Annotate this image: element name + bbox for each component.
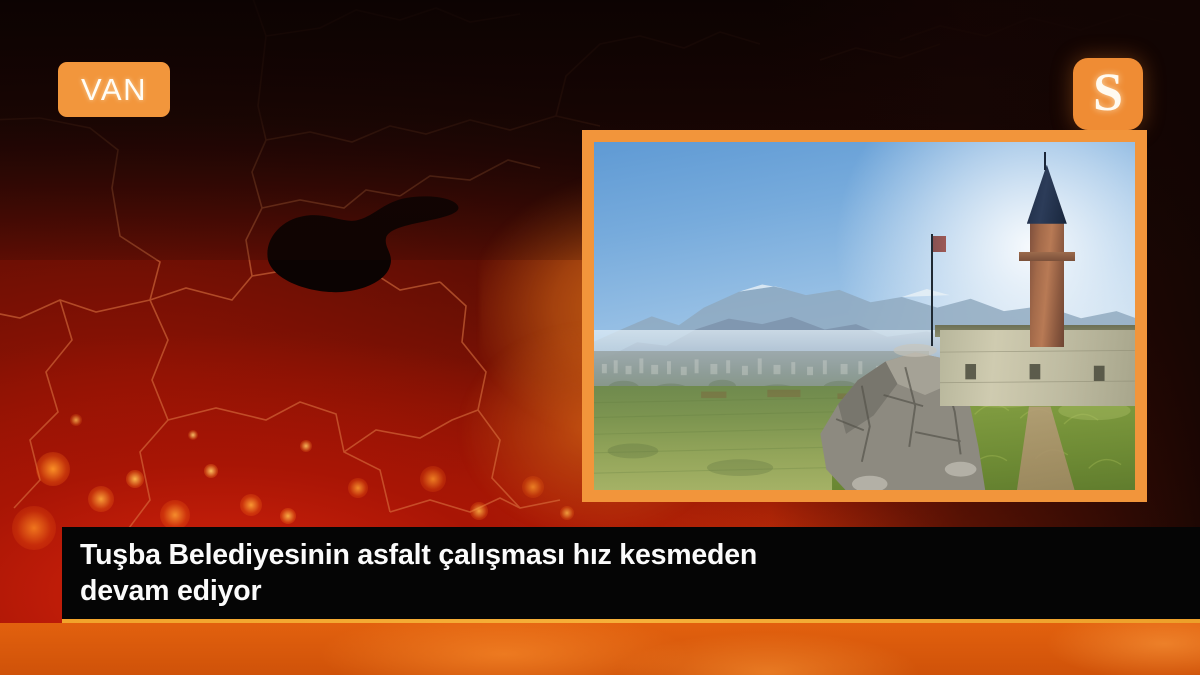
- page-title: Tuşba Belediyesinin asfalt çalışması hız…: [62, 537, 772, 610]
- article-photo: [594, 142, 1135, 490]
- brand-logo-letter: S: [1093, 65, 1123, 119]
- thumbnail-stage: VAN S: [0, 0, 1200, 675]
- photo-minaret-shaft: [1030, 219, 1065, 348]
- location-badge[interactable]: VAN: [58, 62, 170, 117]
- brand-logo[interactable]: S: [1073, 58, 1143, 130]
- headline-bar[interactable]: Tuşba Belediyesinin asfalt çalışması hız…: [62, 527, 1200, 619]
- article-photo-frame[interactable]: [582, 130, 1147, 502]
- photo-minaret-balcony: [1019, 252, 1076, 262]
- location-badge-label: VAN: [81, 72, 147, 108]
- footer-strip: [0, 623, 1200, 675]
- photo-flag: [933, 236, 946, 252]
- photo-minaret-spire: [1044, 152, 1046, 169]
